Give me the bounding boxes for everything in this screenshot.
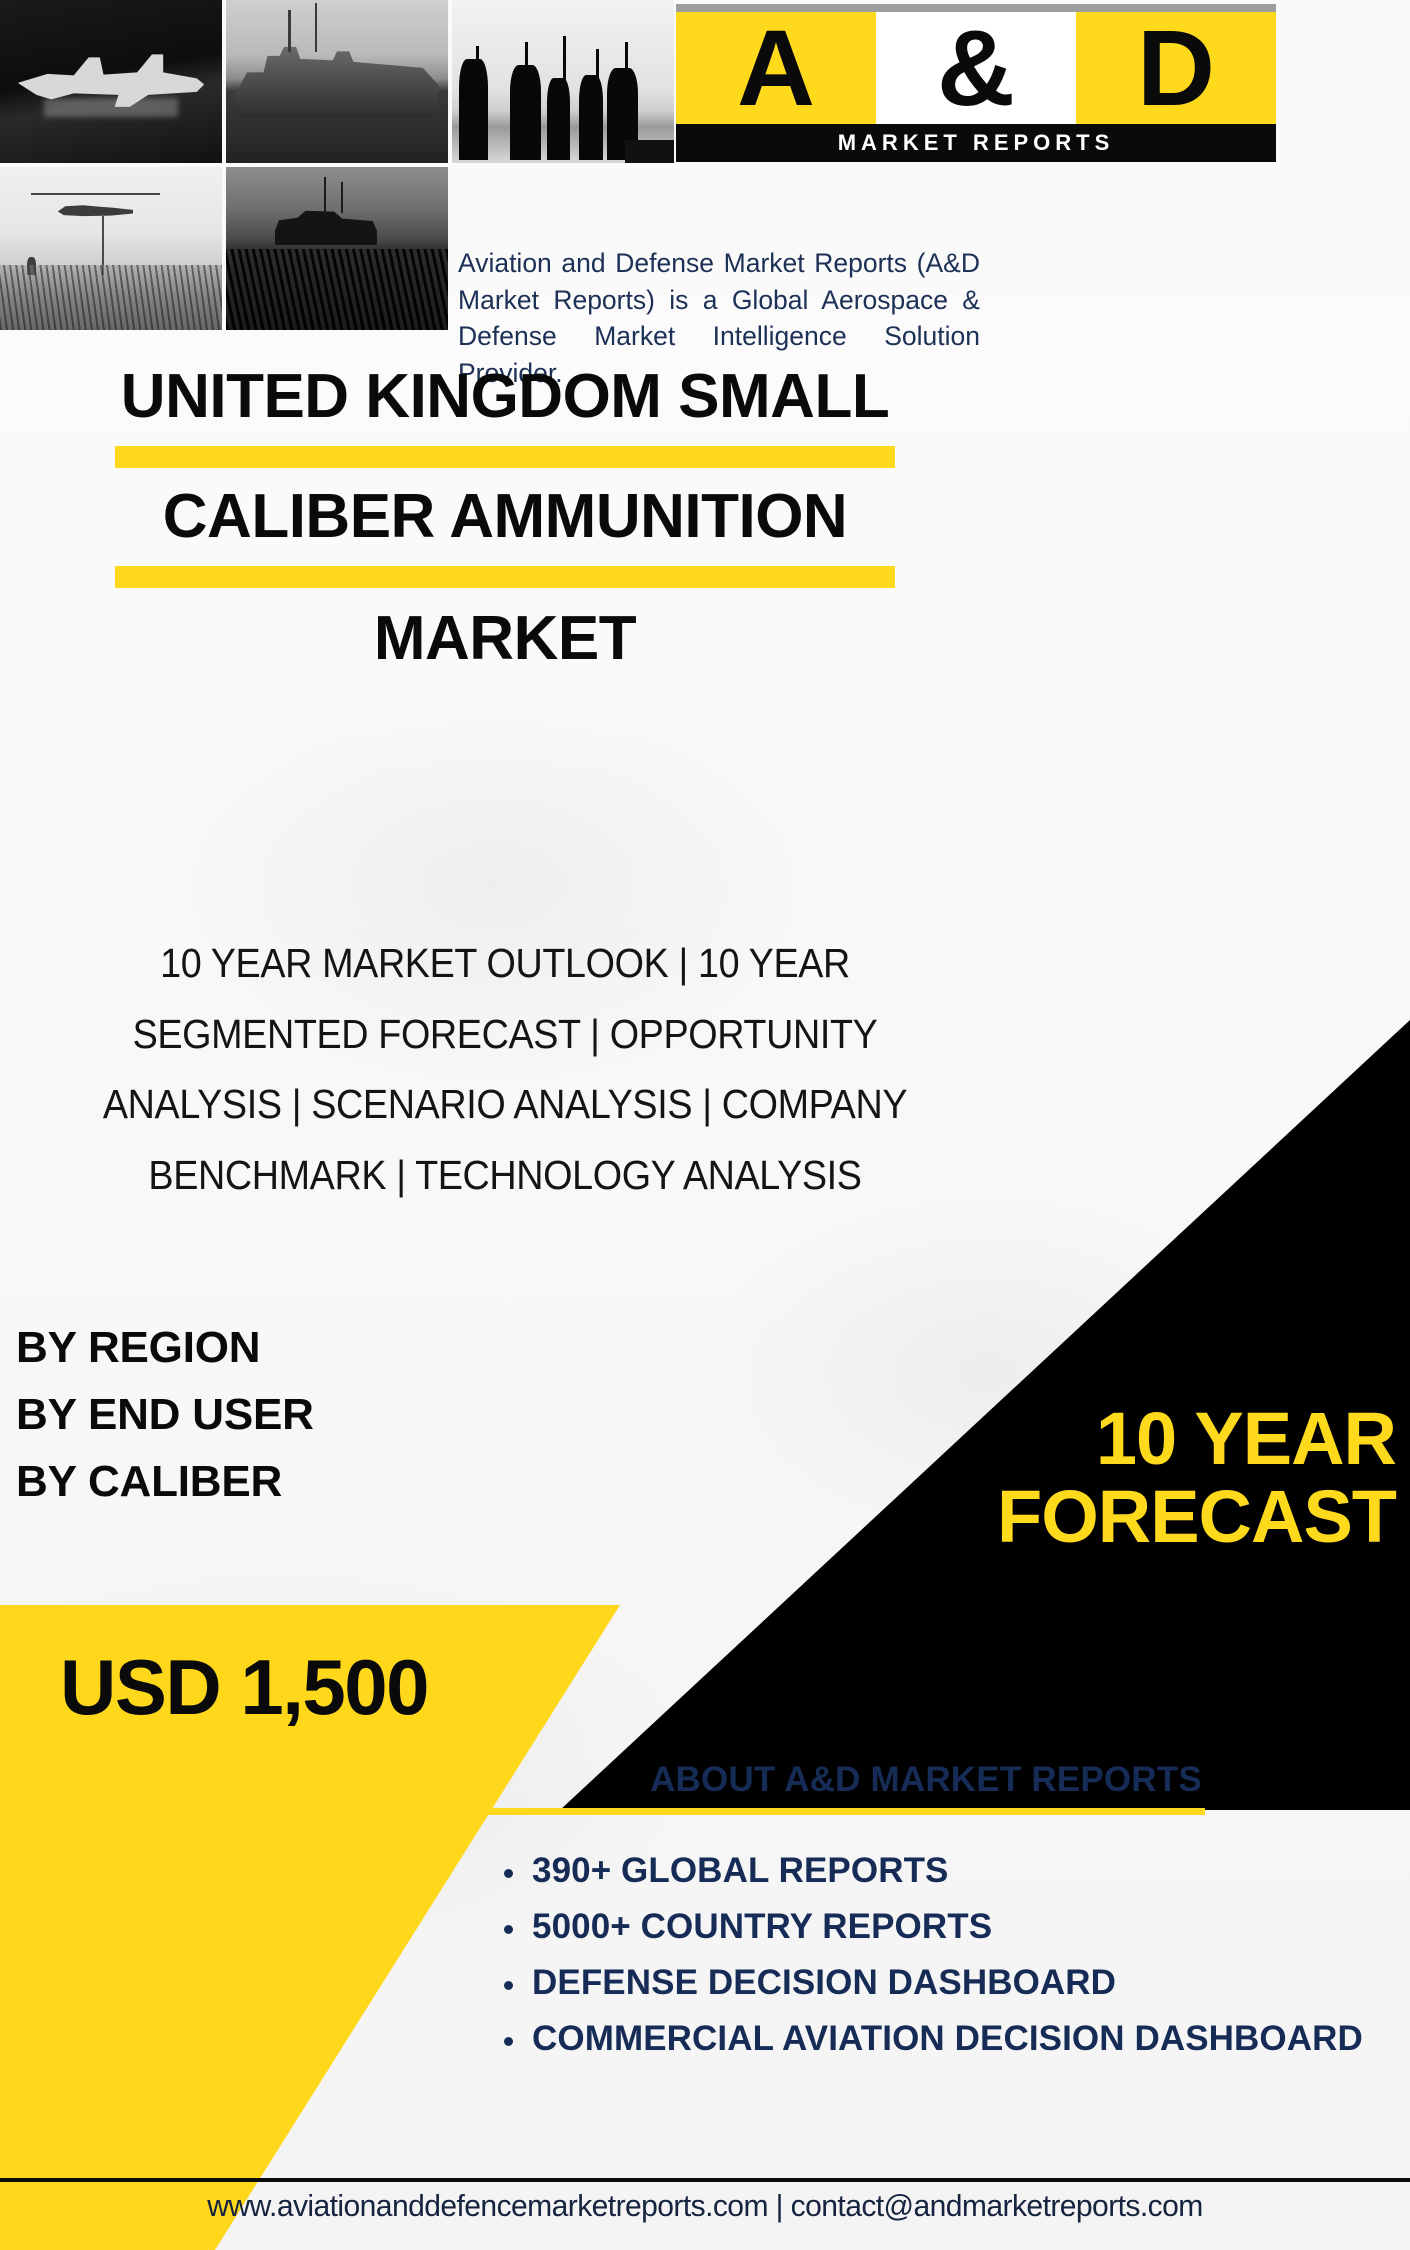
logo-letter-d: D	[1076, 12, 1276, 124]
footer-contact[interactable]: www.aviationanddefencemarketreports.com …	[21, 2188, 1389, 2224]
dark-field	[226, 249, 448, 331]
logo-tagline: MARKET REPORTS	[838, 130, 1115, 156]
soldiers-silhouette-photo	[452, 0, 674, 163]
rifle-silhouette	[596, 49, 599, 98]
grass-field	[0, 265, 222, 330]
fighter-jet-photo	[0, 0, 222, 163]
segment-item-caliber: BY CALIBER	[16, 1449, 314, 1516]
list-item: DEFENSE DECISION DASHBOARD	[452, 1961, 1410, 2005]
poster-root: A & D MARKET REPORTS Aviation and Defens…	[0, 0, 1410, 2250]
ad-market-reports-logo: A & D MARKET REPORTS	[676, 4, 1276, 164]
title-line-3: MARKET	[0, 588, 1010, 670]
rotor-blade	[31, 193, 160, 195]
shoreline	[625, 140, 674, 163]
soldier-silhouette	[547, 78, 569, 160]
title-underline-bar	[115, 446, 895, 468]
armored-vehicle-body	[275, 206, 377, 245]
forecast-badge-line-2: FORECAST	[650, 1478, 1396, 1556]
list-item: COMMERCIAL AVIATION DECISION DASHBOARD	[452, 2017, 1410, 2061]
helicopter-body	[58, 196, 133, 222]
list-item: 390+ GLOBAL REPORTS	[452, 1849, 1410, 1893]
about-bullet-list: 390+ GLOBAL REPORTS 5000+ COUNTRY REPORT…	[452, 1849, 1410, 2061]
report-title: UNITED KINGDOM SMALL CALIBER AMMUNITION …	[0, 360, 1010, 670]
about-section: ABOUT A&D MARKET REPORTS 390+ GLOBAL REP…	[452, 1760, 1410, 2073]
header-image-strip: A & D MARKET REPORTS	[0, 0, 1410, 170]
logo-ampersand: &	[876, 12, 1076, 124]
footer-divider	[0, 2178, 1410, 2182]
title-underline-bar	[115, 566, 895, 588]
title-line-1: UNITED KINGDOM SMALL	[0, 360, 1010, 428]
title-line-2: CALIBER AMMUNITION	[0, 468, 1010, 548]
logo-letter-a: A	[676, 12, 876, 124]
rifle-silhouette	[563, 36, 566, 101]
rifle-silhouette	[525, 42, 528, 94]
carrier-antenna	[315, 3, 317, 52]
logo-tagline-bar: MARKET REPORTS	[676, 124, 1276, 162]
list-item: 5000+ COUNTRY REPORTS	[452, 1905, 1410, 1949]
vehicle-antenna	[324, 177, 326, 213]
soldier-silhouette	[459, 59, 488, 160]
carrier-hull	[235, 42, 439, 117]
carrier-mast	[288, 10, 291, 52]
helicopter-photo	[0, 167, 222, 330]
jet-glow	[44, 98, 177, 118]
about-heading: ABOUT A&D MARKET REPORTS	[452, 1760, 1410, 1800]
rifle-silhouette	[476, 46, 479, 92]
forecast-badge: 10 YEAR FORECAST	[650, 1400, 1410, 1557]
report-scope-subtitle: 10 YEAR MARKET OUTLOOK | 10 YEAR SEGMENT…	[59, 928, 951, 1210]
about-heading-underline	[470, 1808, 1205, 1815]
forecast-badge-line-1: 10 YEAR	[650, 1400, 1396, 1478]
vehicle-antenna	[341, 182, 343, 213]
rifle-silhouette	[625, 42, 628, 94]
segment-item-end-user: BY END USER	[16, 1382, 314, 1449]
price-label: USD 1,500	[60, 1642, 428, 1733]
segment-item-region: BY REGION	[16, 1315, 314, 1382]
armored-vehicle-photo	[226, 167, 448, 330]
aircraft-carrier-photo	[226, 0, 448, 163]
segmentation-list: BY REGION BY END USER BY CALIBER	[16, 1315, 314, 1516]
logo-letter-row: A & D	[676, 12, 1276, 124]
